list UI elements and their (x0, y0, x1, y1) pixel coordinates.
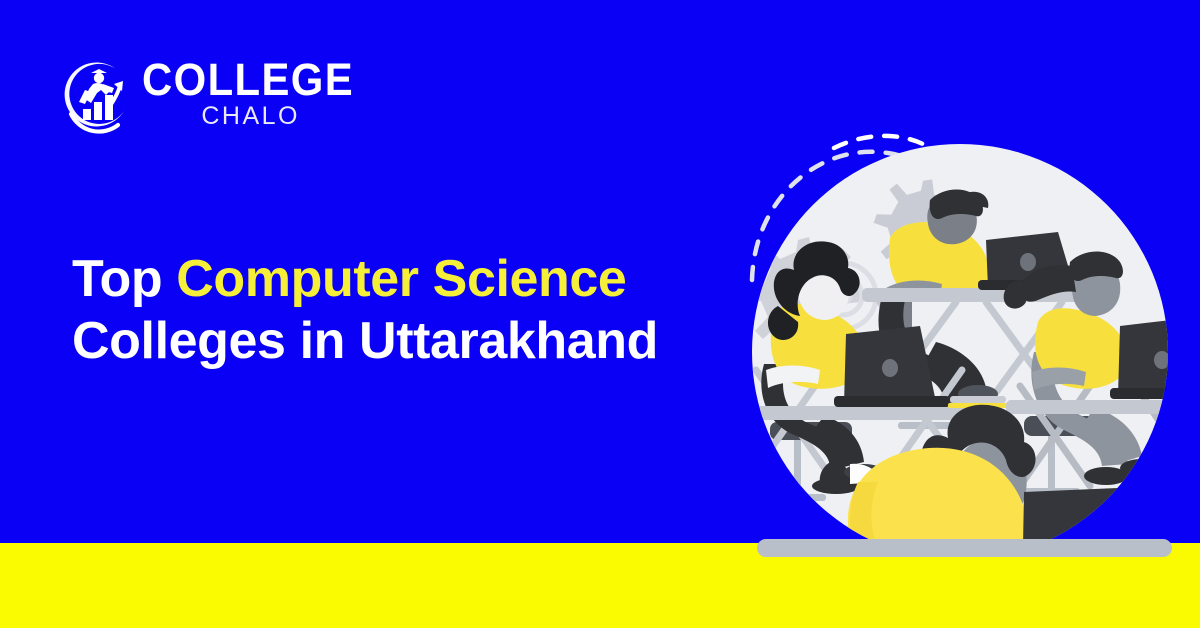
headline-prefix: Top (72, 250, 176, 308)
headline-line-1: Top Computer Science (72, 248, 732, 310)
desk-icon (1006, 400, 1200, 414)
headline-accent: Computer Science (176, 250, 626, 308)
logo-word-college: COLLEGE (142, 58, 300, 102)
logo-wordmark: COLLEGE CHALO (142, 58, 312, 134)
page-title: Top Computer Science Colleges in Uttarak… (72, 248, 732, 372)
logo-word-chalo: CHALO (142, 103, 300, 129)
banner-canvas: COLLEGE CHALO Top Computer Science Colle… (0, 0, 1200, 628)
front-desk-surface (757, 539, 1172, 557)
laptop-icon (1110, 318, 1200, 399)
college-chalo-logo[interactable]: COLLEGE CHALO (58, 56, 308, 136)
desk-icon (742, 406, 980, 420)
headline-line-2: Colleges in Uttarakhand (72, 310, 732, 372)
graduate-running-bar-chart-arrow-circle-icon (58, 59, 136, 137)
students-coding-at-desks-illustration (738, 120, 1182, 560)
